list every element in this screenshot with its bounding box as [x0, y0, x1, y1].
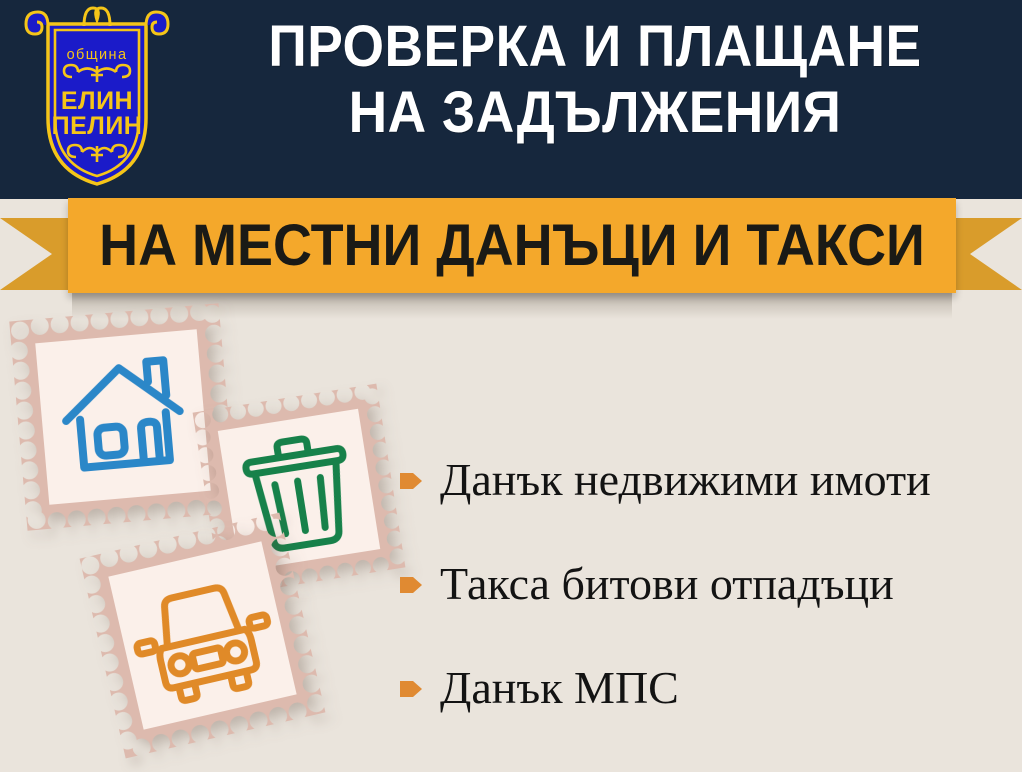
logo-text-obshtina: община [67, 47, 128, 63]
page-title: ПРОВЕРКА И ПЛАЩАНЕ НА ЗАДЪЛЖЕНИЯ [213, 14, 977, 145]
list-item[interactable]: Такса битови отпадъци [398, 532, 1018, 636]
subtitle-ribbon: НА МЕСТНИ ДАНЪЦИ И ТАКСИ [0, 198, 1022, 310]
arrow-right-marker-icon [398, 676, 424, 702]
tax-type-list: Данък недвижими имоти Такса битови отпад… [398, 428, 1018, 740]
arrow-right-marker-icon [398, 468, 424, 494]
municipality-logo: община ЕЛИН ПЕЛИН [22, 2, 172, 192]
poster-root: община ЕЛИН ПЕЛИН [0, 0, 1022, 772]
page-title-line1: ПРОВЕРКА И ПЛАЩАНЕ [213, 14, 977, 80]
logo-text-pelin: ПЕЛИН [52, 112, 143, 140]
list-item[interactable]: Данък недвижими имоти [398, 428, 1018, 532]
list-item-label: Данък МПС [440, 665, 679, 711]
header-bar: община ЕЛИН ПЕЛИН [0, 0, 1022, 199]
list-item[interactable]: Данък МПС [398, 636, 1018, 740]
coat-of-arms-shield-icon: община ЕЛИН ПЕЛИН [22, 2, 172, 192]
list-item-label: Данък недвижими имоти [440, 457, 931, 503]
ribbon-subtitle: НА МЕСТНИ ДАНЪЦИ И ТАКСИ [99, 198, 925, 293]
list-item-label: Такса битови отпадъци [440, 561, 894, 607]
arrow-right-marker-icon [398, 572, 424, 598]
page-title-line2: НА ЗАДЪЛЖЕНИЯ [213, 80, 977, 146]
logo-text-elin: ЕЛИН [61, 87, 133, 115]
